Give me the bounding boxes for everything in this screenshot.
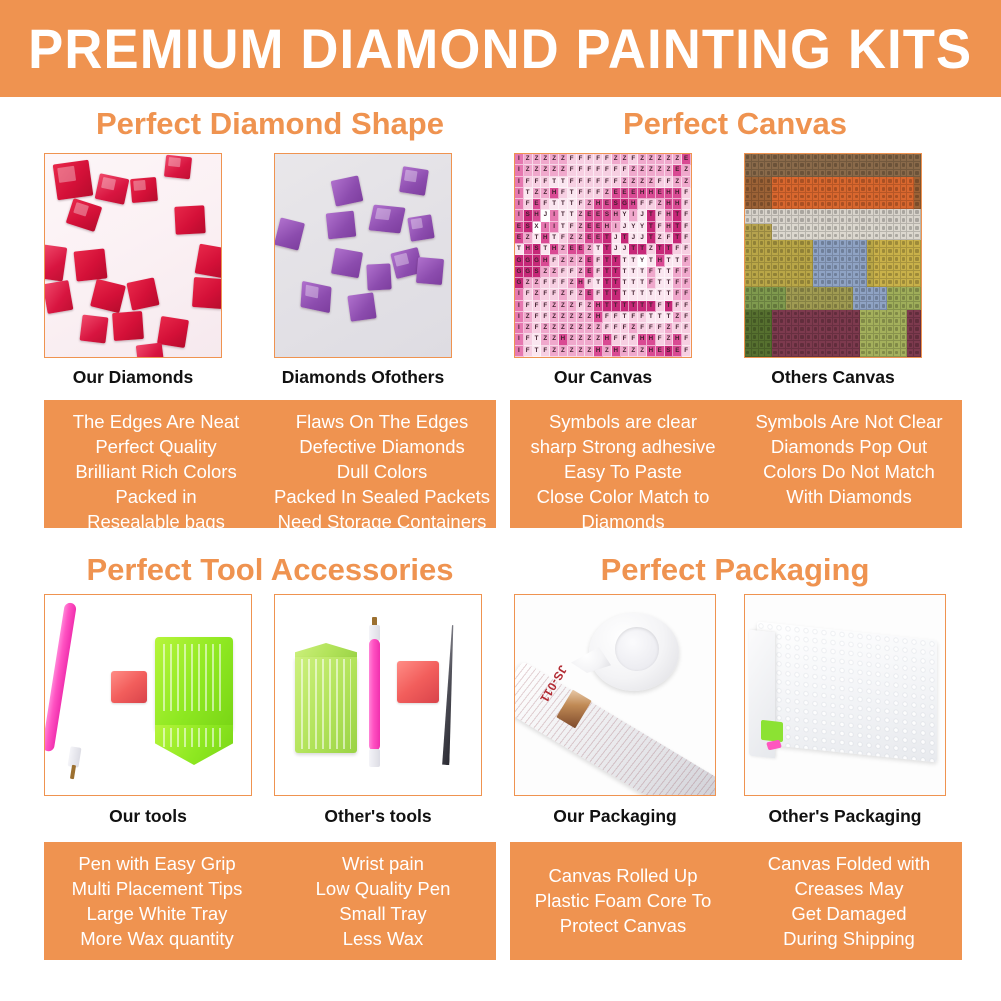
other-canvas-cell: [806, 326, 813, 334]
canvas-symbol-cell: E: [612, 188, 621, 199]
other-canvas-cell: [819, 154, 826, 162]
other-canvas-cell: [745, 295, 752, 303]
canvas-symbol-cell: F: [594, 289, 603, 300]
other-canvas-cell: [786, 334, 793, 342]
canvas-symbol-cell: T: [665, 267, 674, 278]
other-canvas-cell: [826, 334, 833, 342]
other-canvas-cell: [867, 193, 874, 201]
canvas-symbol-cell: E: [656, 346, 665, 357]
canvas-symbol-cell: T: [665, 244, 674, 255]
other-canvas-cell: [880, 271, 887, 279]
canvas-symbol-cell: T: [621, 289, 630, 300]
canvas-symbol-cell: T: [629, 267, 638, 278]
other-canvas-cell: [813, 232, 820, 240]
other-canvas-cell: [907, 302, 914, 310]
canvas-symbol-cell: F: [568, 165, 577, 176]
other-canvas-cell: [745, 287, 752, 295]
other-canvas-cell: [772, 263, 779, 271]
other-canvas-cell: [833, 287, 840, 295]
other-canvas-cell: [853, 318, 860, 326]
other-canvas-cell: [894, 349, 901, 357]
page-header: PREMIUM DIAMOND PAINTING KITS: [0, 0, 1001, 97]
other-canvas-cell: [901, 349, 908, 357]
canvas-symbol-cell: Z: [629, 165, 638, 176]
other-canvas-cell: [752, 193, 759, 201]
canvas-symbol-cell: F: [647, 323, 656, 334]
other-canvas-cell: [840, 279, 847, 287]
other-canvas-cell: [813, 248, 820, 256]
other-canvas-cell: [914, 287, 921, 295]
canvas-symbol-cell: T: [550, 177, 559, 188]
other-canvas-cell: [887, 170, 894, 178]
canvas-symbol-cell: T: [612, 267, 621, 278]
canvas-symbol-cell: X: [533, 222, 542, 233]
other-canvas-cell: [799, 287, 806, 295]
other-canvas-cell: [813, 154, 820, 162]
canvas-symbol-cell: T: [629, 289, 638, 300]
other-canvas-cell: [833, 216, 840, 224]
canvas-symbol-cell: Z: [665, 154, 674, 165]
other-canvas-cell: [874, 271, 881, 279]
canvas-symbol-cell: I: [515, 323, 524, 334]
other-canvas-cell: [765, 232, 772, 240]
canvas-symbol-cell: F: [656, 323, 665, 334]
other-canvas-cell: [907, 209, 914, 217]
other-canvas-cell: [867, 248, 874, 256]
other-canvas-cell: [819, 326, 826, 334]
canvas-symbol-cell: I: [515, 289, 524, 300]
canvas-symbol-cell: Z: [621, 177, 630, 188]
other-canvas-cell: [765, 326, 772, 334]
other-canvas-cell: [772, 170, 779, 178]
other-canvas-cell: [813, 349, 820, 357]
canvas-symbol-cell: H: [594, 346, 603, 357]
canvas-symbol-cell: F: [568, 289, 577, 300]
canvas-symbol-cell: H: [665, 188, 674, 199]
other-canvas-cell: [887, 224, 894, 232]
canvas-symbol-cell: Z: [559, 312, 568, 323]
other-canvas-cell: [752, 263, 759, 271]
other-canvas-cell: [880, 334, 887, 342]
other-canvas-cell: [819, 177, 826, 185]
other-canvas-cell: [806, 232, 813, 240]
canvas-symbol-cell: Z: [629, 346, 638, 357]
other-canvas-cell: [860, 216, 867, 224]
other-canvas-cell: [826, 256, 833, 264]
canvas-symbol-cell: I: [515, 154, 524, 165]
other-canvas-cell: [880, 295, 887, 303]
canvas-symbol-cell: F: [533, 323, 542, 334]
canvas-symbol-cell: F: [603, 177, 612, 188]
other-canvas-cell: [853, 216, 860, 224]
canvas-symbol-cell: F: [647, 278, 656, 289]
other-canvas-cell: [786, 256, 793, 264]
canvas-symbol-cell: Y: [638, 222, 647, 233]
other-canvas-cell: [799, 326, 806, 334]
other-canvas-cell: [860, 349, 867, 357]
other-canvas-cell: [901, 232, 908, 240]
other-canvas-cell: [833, 154, 840, 162]
other-canvas-cell: [765, 263, 772, 271]
canvas-symbol-cell: H: [647, 188, 656, 199]
other-canvas-cell: [745, 302, 752, 310]
other-canvas-cell: [860, 162, 867, 170]
other-canvas-cell: [779, 263, 786, 271]
canvas-symbol-cell: Z: [621, 154, 630, 165]
other-canvas-cell: [806, 209, 813, 217]
other-canvas-cell: [813, 177, 820, 185]
canvas-symbol-cell: F: [568, 267, 577, 278]
other-canvas-cell: [887, 302, 894, 310]
canvas-symbol-cell: F: [603, 312, 612, 323]
section-title-packaging: Perfect Packaging: [505, 552, 965, 588]
canvas-symbol-cell: F: [621, 165, 630, 176]
other-canvas-cell: [765, 271, 772, 279]
other-canvas-cell: [819, 209, 826, 217]
canvas-symbol-cell: Z: [524, 154, 533, 165]
other-canvas-cell: [745, 240, 752, 248]
other-canvas-cell: [887, 256, 894, 264]
other-canvas-cell: [847, 279, 854, 287]
other-canvas-cell: [853, 177, 860, 185]
other-canvas-cell: [840, 170, 847, 178]
other-canvas-cell: [786, 302, 793, 310]
canvas-symbol-cell: Z: [533, 278, 542, 289]
other-canvas-cell: [847, 193, 854, 201]
other-canvas-cell: [867, 170, 874, 178]
other-canvas-cell: [765, 302, 772, 310]
other-canvas-cell: [847, 232, 854, 240]
other-canvas-cell: [880, 240, 887, 248]
other-canvas-cell: [765, 256, 772, 264]
other-canvas-cell: [874, 201, 881, 209]
other-canvas-cell: [860, 193, 867, 201]
other-canvas-cell: [840, 302, 847, 310]
other-canvas-cell: [833, 334, 840, 342]
other-canvas-cell: [853, 193, 860, 201]
canvas-symbol-cell: H: [612, 346, 621, 357]
other-canvas-cell: [759, 177, 766, 185]
other-canvas-cell: [792, 201, 799, 209]
other-canvas-cell: [813, 334, 820, 342]
canvas-symbol-cell: T: [559, 177, 568, 188]
other-canvas-cell: [752, 287, 759, 295]
other-canvas-cell: [759, 240, 766, 248]
canvas-symbol-cell: F: [541, 199, 550, 210]
canvas-symbol-cell: Z: [603, 346, 612, 357]
bullet: Resealable bags: [87, 509, 225, 534]
other-canvas-cell: [860, 295, 867, 303]
canvas-symbol-cell: Z: [559, 255, 568, 266]
other-canvas-cell: [901, 302, 908, 310]
bullet: Protect Canvas: [560, 913, 686, 938]
other-canvas-cell: [880, 310, 887, 318]
other-canvas-cell: [860, 154, 867, 162]
canvas-symbol-cell: Z: [638, 165, 647, 176]
other-canvas-cell: [880, 256, 887, 264]
canvas-symbol-cell: H: [612, 210, 621, 221]
other-canvas-cell: [840, 209, 847, 217]
other-canvas-cell: [901, 185, 908, 193]
other-canvas-cell: [806, 201, 813, 209]
infocol-others-tools: Wrist pain Low Quality Pen Small Tray Le…: [270, 842, 496, 960]
bullet: Packed In Sealed Packets: [274, 484, 490, 509]
canvas-symbol-cell: Z: [577, 334, 586, 345]
canvas-symbol-cell: I: [515, 199, 524, 210]
canvas-symbol-cell: F: [550, 278, 559, 289]
canvas-symbol-cell: T: [594, 278, 603, 289]
canvas-symbol-cell: I: [515, 346, 524, 357]
other-canvas-cell: [914, 341, 921, 349]
canvas-symbol-cell: Z: [594, 334, 603, 345]
other-canvas-cell: [833, 232, 840, 240]
canvas-symbol-cell: F: [550, 255, 559, 266]
other-canvas-cell: [786, 162, 793, 170]
canvas-symbol-cell: Z: [568, 301, 577, 312]
other-canvas-cell: [847, 271, 854, 279]
other-canvas-cell: [914, 177, 921, 185]
canvas-symbol-cell: F: [568, 154, 577, 165]
other-canvas-cell: [765, 193, 772, 201]
canvas-symbol-cell: H: [541, 233, 550, 244]
other-canvas-cell: [759, 162, 766, 170]
other-canvas-cell: [840, 162, 847, 170]
other-canvas-cell: [901, 162, 908, 170]
canvas-symbol-cell: E: [594, 210, 603, 221]
canvas-symbol-cell: I: [629, 210, 638, 221]
other-canvas-cell: [853, 232, 860, 240]
bullet: Small Tray: [339, 901, 426, 926]
other-canvas-cell: [840, 318, 847, 326]
other-canvas-cell: [833, 201, 840, 209]
canvas-symbol-cell: T: [638, 267, 647, 278]
other-canvas-cell: [914, 302, 921, 310]
other-canvas-cell: [847, 310, 854, 318]
other-canvas-cell: [860, 240, 867, 248]
other-canvas-cell: [907, 349, 914, 357]
other-canvas-cell: [792, 177, 799, 185]
other-canvas-cell: [819, 193, 826, 201]
other-canvas-cell: [914, 240, 921, 248]
other-canvas-cell: [772, 287, 779, 295]
canvas-symbol-cell: F: [647, 199, 656, 210]
canvas-symbol-cell: Z: [541, 188, 550, 199]
other-canvas-cell: [894, 170, 901, 178]
other-canvas-cell: [874, 154, 881, 162]
other-canvas-cell: [860, 326, 867, 334]
canvas-symbol-cell: G: [621, 199, 630, 210]
canvas-symbol-cell: Z: [533, 188, 542, 199]
other-canvas-cell: [772, 154, 779, 162]
canvas-symbol-cell: T: [665, 312, 674, 323]
other-canvas-cell: [874, 318, 881, 326]
other-canvas-cell: [907, 341, 914, 349]
other-canvas-cell: [887, 232, 894, 240]
other-canvas-cell: [765, 224, 772, 232]
image-others-diamonds: [274, 153, 452, 358]
canvas-symbol-cell: T: [656, 289, 665, 300]
other-canvas-cell: [887, 263, 894, 271]
other-canvas-cell: [765, 162, 772, 170]
canvas-symbol-cell: F: [621, 323, 630, 334]
other-canvas-cell: [880, 302, 887, 310]
canvas-symbol-cell: E: [585, 267, 594, 278]
infocol-our-packaging: Canvas Rolled Up Plastic Foam Core To Pr…: [510, 842, 736, 960]
other-canvas-cell: [874, 185, 881, 193]
muddy-color-canvas-photo: [745, 154, 921, 357]
canvas-symbol-cell: F: [638, 323, 647, 334]
other-canvas-cell: [833, 240, 840, 248]
other-canvas-cell: [894, 201, 901, 209]
bullet: Canvas Folded with: [768, 851, 930, 876]
other-canvas-cell: [792, 240, 799, 248]
canvas-symbol-cell: F: [673, 323, 682, 334]
canvas-symbol-cell: F: [673, 278, 682, 289]
canvas-symbol-cell: Z: [559, 323, 568, 334]
other-canvas-cell: [826, 201, 833, 209]
other-canvas-cell: [860, 201, 867, 209]
canvas-symbol-cell: Z: [524, 233, 533, 244]
other-canvas-cell: [880, 224, 887, 232]
other-canvas-cell: [826, 310, 833, 318]
canvas-symbol-cell: H: [673, 188, 682, 199]
other-canvas-cell: [779, 271, 786, 279]
other-canvas-cell: [907, 263, 914, 271]
canvas-symbol-cell: F: [585, 177, 594, 188]
canvas-symbol-cell: T: [621, 312, 630, 323]
other-canvas-cell: [786, 279, 793, 287]
other-canvas-cell: [779, 326, 786, 334]
other-canvas-cell: [874, 279, 881, 287]
other-canvas-cell: [813, 341, 820, 349]
canvas-symbol-cell: F: [559, 267, 568, 278]
other-canvas-cell: [887, 295, 894, 303]
other-canvas-cell: [840, 224, 847, 232]
other-canvas-cell: [907, 162, 914, 170]
other-canvas-cell: [779, 287, 786, 295]
our-tools-photo: [45, 595, 251, 795]
other-canvas-cell: [887, 216, 894, 224]
other-canvas-cell: [847, 154, 854, 162]
other-canvas-cell: [759, 318, 766, 326]
other-canvas-cell: [880, 154, 887, 162]
canvas-symbol-cell: T: [665, 301, 674, 312]
other-canvas-cell: [759, 256, 766, 264]
canvas-symbol-cell: Z: [568, 312, 577, 323]
other-canvas-cell: [745, 318, 752, 326]
infobox-diamond-shape: The Edges Are Neat Perfect Quality Brill…: [44, 400, 496, 528]
other-canvas-cell: [759, 193, 766, 201]
other-canvas-cell: [813, 240, 820, 248]
canvas-symbol-cell: F: [656, 301, 665, 312]
other-canvas-cell: [819, 341, 826, 349]
other-canvas-cell: [806, 170, 813, 178]
other-canvas-cell: [752, 209, 759, 217]
canvas-symbol-cell: F: [603, 154, 612, 165]
other-canvas-cell: [914, 318, 921, 326]
other-canvas-cell: [765, 170, 772, 178]
other-canvas-cell: [914, 263, 921, 271]
canvas-symbol-cell: F: [524, 346, 533, 357]
canvas-symbol-cell: I: [515, 312, 524, 323]
other-canvas-cell: [745, 271, 752, 279]
other-canvas-cell: [840, 240, 847, 248]
canvas-symbol-cell: Z: [559, 244, 568, 255]
other-canvas-cell: [867, 162, 874, 170]
other-canvas-cell: [874, 302, 881, 310]
other-canvas-cell: [887, 271, 894, 279]
other-canvas-cell: [833, 263, 840, 271]
canvas-symbol-cell: Z: [577, 346, 586, 357]
other-canvas-cell: [799, 256, 806, 264]
other-canvas-cell: [745, 201, 752, 209]
other-canvas-cell: [853, 271, 860, 279]
canvas-symbol-cell: E: [656, 188, 665, 199]
other-canvas-cell: [819, 170, 826, 178]
other-canvas-cell: [752, 334, 759, 342]
canvas-symbol-cell: Z: [533, 289, 542, 300]
canvas-symbol-cell: Z: [524, 278, 533, 289]
canvas-symbol-cell: T: [673, 233, 682, 244]
other-canvas-cell: [887, 248, 894, 256]
other-canvas-cell: [759, 185, 766, 193]
other-canvas-cell: [901, 170, 908, 178]
bullet: Dull Colors: [337, 459, 427, 484]
other-canvas-cell: [813, 295, 820, 303]
other-canvas-cell: [792, 232, 799, 240]
canvas-symbol-cell: F: [682, 278, 691, 289]
canvas-symbol-cell: Z: [665, 323, 674, 334]
canvas-symbol-cell: T: [533, 334, 542, 345]
other-canvas-cell: [772, 318, 779, 326]
other-canvas-cell: [799, 271, 806, 279]
other-canvas-cell: [745, 279, 752, 287]
canvas-symbol-cell: Y: [621, 210, 630, 221]
other-canvas-cell: [786, 209, 793, 217]
other-canvas-cell: [833, 326, 840, 334]
other-canvas-cell: [786, 326, 793, 334]
other-canvas-cell: [901, 248, 908, 256]
other-canvas-cell: [786, 201, 793, 209]
other-canvas-cell: [901, 193, 908, 201]
other-canvas-cell: [833, 224, 840, 232]
other-canvas-cell: [833, 256, 840, 264]
canvas-symbol-cell: Z: [533, 165, 542, 176]
other-canvas-cell: [779, 162, 786, 170]
other-canvas-cell: [887, 162, 894, 170]
canvas-symbol-cell: F: [638, 199, 647, 210]
other-canvas-cell: [792, 256, 799, 264]
other-canvas-cell: [874, 240, 881, 248]
other-canvas-cell: [752, 349, 759, 357]
page-title: PREMIUM DIAMOND PAINTING KITS: [28, 16, 972, 81]
other-canvas-cell: [819, 318, 826, 326]
other-canvas-cell: [914, 209, 921, 217]
other-canvas-cell: [752, 310, 759, 318]
other-canvas-cell: [765, 248, 772, 256]
canvas-symbol-cell: F: [585, 165, 594, 176]
other-canvas-cell: [826, 326, 833, 334]
other-canvas-cell: [901, 201, 908, 209]
other-canvas-cell: [867, 326, 874, 334]
canvas-symbol-cell: Z: [541, 334, 550, 345]
other-canvas-cell: [860, 310, 867, 318]
other-canvas-cell: [847, 341, 854, 349]
other-canvas-cell: [826, 295, 833, 303]
canvas-symbol-cell: T: [524, 188, 533, 199]
canvas-symbol-cell: F: [665, 233, 674, 244]
other-canvas-cell: [907, 334, 914, 342]
